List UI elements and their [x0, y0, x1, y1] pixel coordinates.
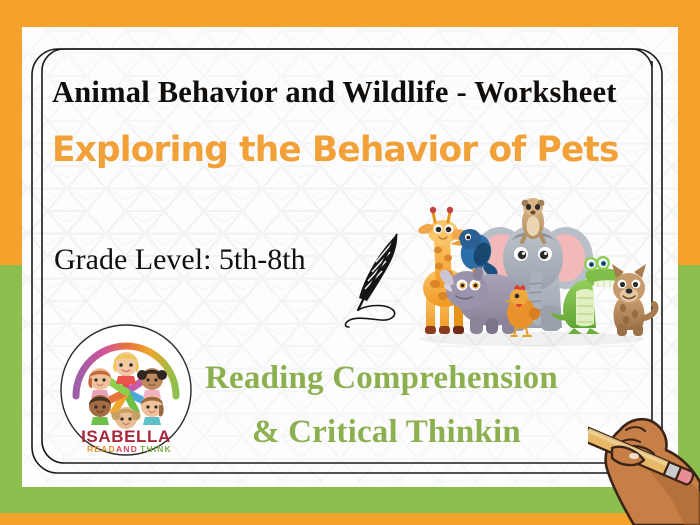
logo-tagline-and: AND [116, 444, 138, 454]
focus-line-critical-thinking: & Critical Thinkin [252, 414, 521, 451]
worksheet-cover-poster: Animal Behavior and Wildlife - Worksheet… [0, 0, 700, 525]
cartoon-animal-group-icon [404, 196, 662, 348]
hand-writing-pencil-icon [588, 404, 700, 525]
page-title: Animal Behavior and Wildlife - Worksheet [52, 74, 617, 110]
logo-tagline-read: READ [87, 444, 116, 454]
hyena-figure [612, 264, 656, 336]
page-subtitle: Exploring the Behavior of Pets [52, 130, 619, 170]
isabella-logo-badge[interactable]: ISABELLA READ AND THINK [58, 322, 194, 458]
grade-level-label: Grade Level: 5th-8th [54, 243, 306, 277]
meerkat-figure [522, 198, 545, 242]
focus-line-reading-comprehension: Reading Comprehension [205, 360, 558, 397]
logo-tagline-think: THINK [140, 444, 172, 454]
